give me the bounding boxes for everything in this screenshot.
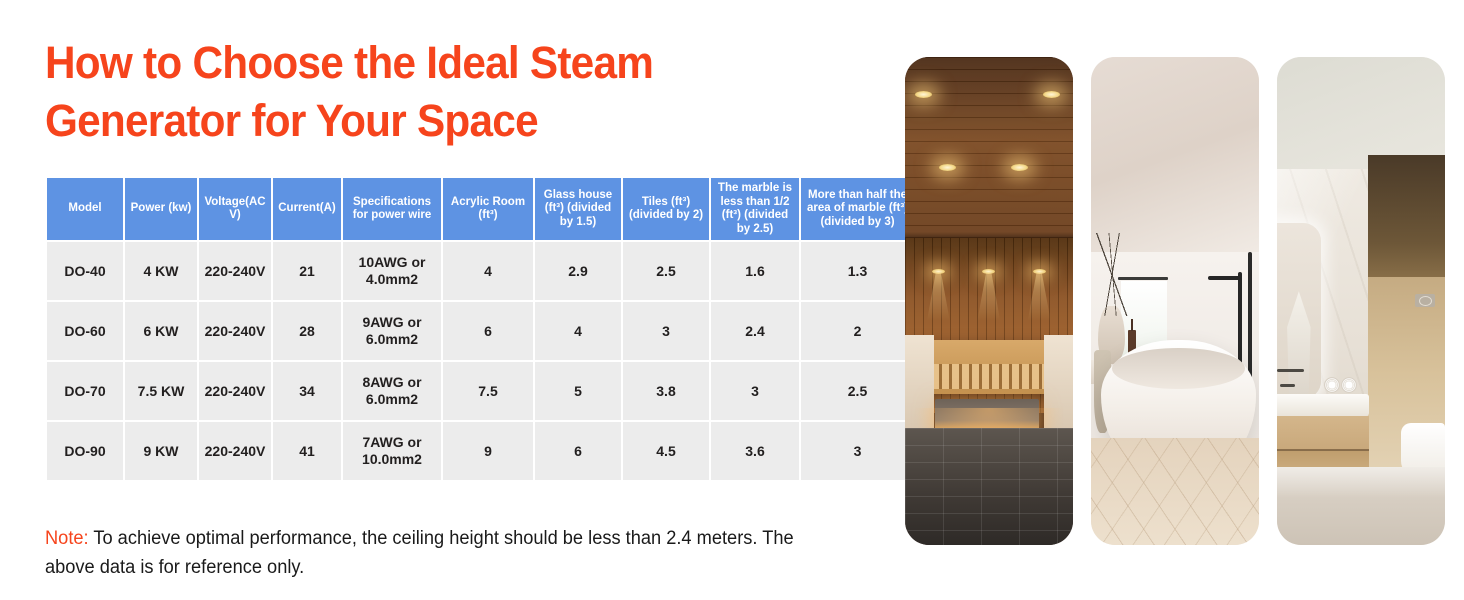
cell-marble-more: 1.3 (801, 242, 914, 300)
herringbone-wood-floor (1091, 438, 1259, 545)
spec-table-wrapper: Model Power (kw) Voltage(AC V) Current(A… (45, 176, 878, 482)
cell-acrylic: 7.5 (443, 362, 533, 420)
cell-acrylic: 9 (443, 422, 533, 480)
cell-marble-half: 3.6 (711, 422, 799, 480)
cell-power: 9 KW (125, 422, 197, 480)
cell-wire: 9AWG or 6.0mm2 (343, 302, 441, 360)
steam-generator-spec-table: Model Power (kw) Voltage(AC V) Current(A… (45, 176, 916, 482)
cell-acrylic: 6 (443, 302, 533, 360)
table-row: DO-70 7.5 KW 220-240V 34 8AWG or 6.0mm2 … (47, 362, 914, 420)
vanity-countertop (1277, 394, 1369, 416)
col-header-glass-house: Glass house (ft³) (divided by 1.5) (535, 178, 621, 240)
cell-power: 7.5 KW (125, 362, 197, 420)
cell-tiles: 3.8 (623, 362, 709, 420)
shower-riser (1248, 252, 1252, 379)
photo-freestanding-bathtub (1091, 57, 1259, 545)
col-header-current: Current(A) (273, 178, 341, 240)
cell-acrylic: 4 (443, 242, 533, 300)
sauna-ceiling (905, 57, 1073, 242)
bathroom-floor (1277, 467, 1445, 545)
cell-marble-more: 2.5 (801, 362, 914, 420)
faucet-handle-icon (1280, 384, 1295, 387)
cell-voltage: 220-240V (199, 242, 271, 300)
cell-tiles: 4.5 (623, 422, 709, 480)
cell-wire: 10AWG or 4.0mm2 (343, 242, 441, 300)
dark-wood-panel (1368, 155, 1445, 282)
note-label: Note: (45, 528, 89, 549)
flush-plate-icon (1415, 294, 1435, 307)
cell-glass: 6 (535, 422, 621, 480)
ceiling-light-icon (1043, 91, 1060, 98)
rolled-towel (1324, 377, 1340, 393)
page-title: How to Choose the Ideal Steam Generator … (45, 34, 835, 150)
col-header-marble-half: The marble is less than 1/2 (ft³) (divid… (711, 178, 799, 240)
cell-marble-more: 2 (801, 302, 914, 360)
photo-wooden-sauna-interior (905, 57, 1073, 545)
headline-block: How to Choose the Ideal Steam Generator … (45, 34, 885, 150)
col-header-wire-spec: Specifications for power wire (343, 178, 441, 240)
col-header-voltage: Voltage(AC V) (199, 178, 271, 240)
col-header-tiles: Tiles (ft³)(divided by 2) (623, 178, 709, 240)
cell-glass: 5 (535, 362, 621, 420)
table-header-row: Model Power (kw) Voltage(AC V) Current(A… (47, 178, 914, 240)
cell-current: 21 (273, 242, 341, 300)
note-text: Note: To achieve optimal performance, th… (45, 524, 803, 582)
col-header-power: Power (kw) (125, 178, 197, 240)
cell-glass: 4 (535, 302, 621, 360)
cell-voltage: 220-240V (199, 302, 271, 360)
table-body: DO-40 4 KW 220-240V 21 10AWG or 4.0mm2 4… (47, 242, 914, 480)
wall-faucet-icon (1277, 369, 1304, 372)
sauna-bench-slats (912, 364, 1067, 388)
table-header: Model Power (kw) Voltage(AC V) Current(A… (47, 178, 914, 240)
cell-power: 4 KW (125, 242, 197, 300)
table-row: DO-40 4 KW 220-240V 21 10AWG or 4.0mm2 4… (47, 242, 914, 300)
sauna-stone-floor (905, 428, 1073, 545)
rolled-towel (1341, 377, 1357, 393)
col-header-model: Model (47, 178, 123, 240)
cell-model: DO-60 (47, 302, 123, 360)
cell-marble-half: 3 (711, 362, 799, 420)
decor-branches (1096, 233, 1130, 316)
cell-current: 28 (273, 302, 341, 360)
bathroom-ceiling (1091, 57, 1259, 262)
cell-wire: 7AWG or 10.0mm2 (343, 422, 441, 480)
photo-strip (905, 57, 1445, 545)
cell-glass: 2.9 (535, 242, 621, 300)
cell-current: 34 (273, 362, 341, 420)
cell-model: DO-40 (47, 242, 123, 300)
cell-marble-more: 3 (801, 422, 914, 480)
cell-tiles: 3 (623, 302, 709, 360)
table-row: DO-90 9 KW 220-240V 41 7AWG or 10.0mm2 9… (47, 422, 914, 480)
col-header-acrylic-room: Acrylic Room (ft³) (443, 178, 533, 240)
cell-marble-half: 2.4 (711, 302, 799, 360)
cell-voltage: 220-240V (199, 362, 271, 420)
cell-wire: 8AWG or 6.0mm2 (343, 362, 441, 420)
cell-voltage: 220-240V (199, 422, 271, 480)
cell-current: 41 (273, 422, 341, 480)
note-body: To achieve optimal performance, the ceil… (45, 528, 794, 578)
cell-model: DO-70 (47, 362, 123, 420)
infographic-page: How to Choose the Ideal Steam Generator … (0, 0, 1464, 600)
cell-model: DO-90 (47, 422, 123, 480)
photo-modern-bathroom-vanity (1277, 57, 1445, 545)
table-row: DO-60 6 KW 220-240V 28 9AWG or 6.0mm2 6 … (47, 302, 914, 360)
cell-tiles: 2.5 (623, 242, 709, 300)
cell-marble-half: 1.6 (711, 242, 799, 300)
cell-power: 6 KW (125, 302, 197, 360)
col-header-marble-more: More than half the area of marble (ft³) … (801, 178, 914, 240)
